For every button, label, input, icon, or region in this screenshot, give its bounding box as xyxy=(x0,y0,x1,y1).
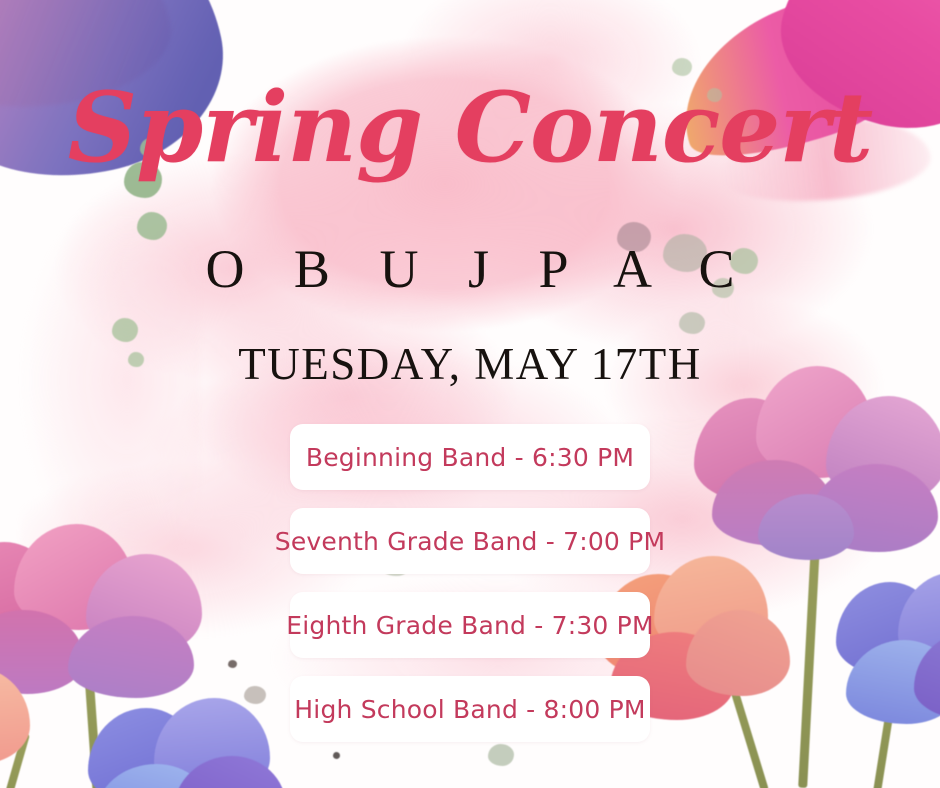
spring-concert-flyer: Spring Concert O B U J P A C TUESDAY, MA… xyxy=(0,0,940,788)
schedule-item: High School Band - 8:00 PM xyxy=(290,676,650,742)
stem-blue-poppy-right xyxy=(873,625,907,788)
petal-coral-poppy-left-2 xyxy=(0,668,30,764)
schedule-item: Eighth Grade Band - 7:30 PM xyxy=(290,592,650,658)
flower-cluster-bottom-left xyxy=(0,520,220,788)
petal-blue-poppy-left-1 xyxy=(88,708,200,788)
schedule-list: Beginning Band - 6:30 PM Seventh Grade B… xyxy=(290,424,650,760)
petal-blue-poppy-right-1 xyxy=(836,582,940,676)
schedule-item: Beginning Band - 6:30 PM xyxy=(290,424,650,490)
event-date: TUESDAY, MAY 17TH xyxy=(0,338,940,390)
schedule-item-label: Beginning Band - 6:30 PM xyxy=(306,443,634,472)
petal-pink-poppy-left-4 xyxy=(0,610,84,694)
stem-coral-poppy-right xyxy=(707,613,769,788)
petal-blue-poppy-right-3 xyxy=(846,640,940,724)
petal-pink-poppy-left-1 xyxy=(0,542,60,646)
stem-blue-poppy-left xyxy=(158,760,174,788)
green-splatter-icon-3 xyxy=(137,212,167,240)
petal-blue-poppy-right-4 xyxy=(914,632,940,720)
petal-blue-poppy-right-2 xyxy=(898,572,940,670)
schedule-item-label: Seventh Grade Band - 7:00 PM xyxy=(275,527,665,556)
petal-blue-poppy-left-2 xyxy=(154,698,270,788)
petal-blue-poppy-left-4 xyxy=(174,756,286,788)
petal-pink-poppy-left-2 xyxy=(14,524,134,630)
petal-pink-poppy-right-1 xyxy=(694,398,804,502)
stem-coral-poppy-left xyxy=(0,733,30,788)
gray-splatter-icon-2 xyxy=(244,686,266,704)
schedule-item-label: Eighth Grade Band - 7:30 PM xyxy=(286,611,653,640)
petal-coral-poppy-right-4 xyxy=(686,610,790,696)
schedule-item: Seventh Grade Band - 7:00 PM xyxy=(290,508,650,574)
venue-name: O B U J P A C xyxy=(0,238,940,300)
stem-pink-poppy-right xyxy=(798,488,823,788)
petal-blue-poppy-left-3 xyxy=(96,764,212,788)
petal-pink-poppy-right-6 xyxy=(758,494,854,560)
schedule-item-label: High School Band - 8:00 PM xyxy=(294,695,645,724)
stem-pink-poppy-left xyxy=(82,640,103,788)
petal-pink-poppy-right-3 xyxy=(826,396,940,504)
petal-pink-poppy-left-5 xyxy=(68,616,194,698)
flower-cluster-bottom-right xyxy=(660,360,940,788)
page-title: Spring Concert xyxy=(0,78,940,179)
dark-speck-icon-2 xyxy=(228,660,237,668)
petal-pink-poppy-right-4 xyxy=(712,460,834,546)
green-splatter-icon-8 xyxy=(679,312,705,334)
petal-pink-poppy-left-3 xyxy=(86,554,202,654)
petal-pink-poppy-right-5 xyxy=(810,464,938,552)
petal-coral-poppy-right-2 xyxy=(654,556,768,656)
